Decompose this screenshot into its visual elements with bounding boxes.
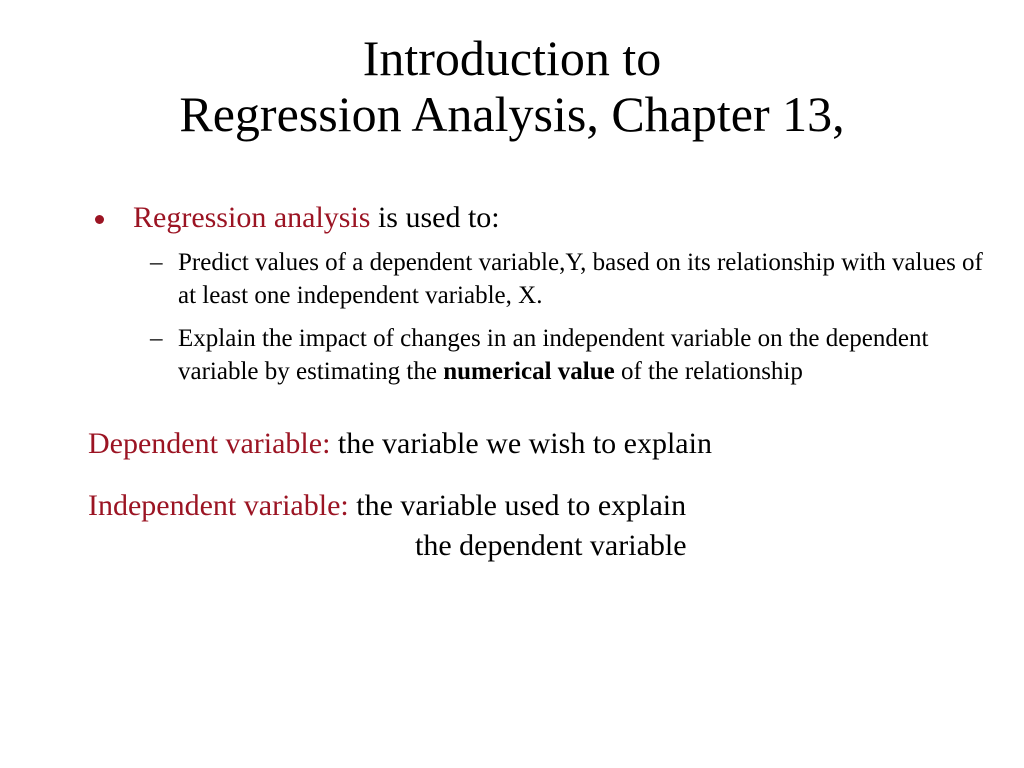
spacer — [88, 398, 998, 424]
slide-title: Introduction to Regression Analysis, Cha… — [0, 30, 1024, 142]
definition-term: Independent variable — [88, 489, 340, 522]
sub-bullet-item-explain: – Explain the impact of changes in an in… — [88, 322, 998, 388]
sub-bullet-item-predict: – Predict values of a dependent variable… — [88, 246, 998, 312]
definition-colon: : — [340, 489, 348, 522]
en-dash-icon: – — [150, 322, 163, 355]
definition-term: Dependent variable — [88, 427, 322, 460]
bullet-plain-text: is used to: — [370, 201, 499, 234]
sub-bullet-text-after-bold: of the relationship — [615, 358, 803, 385]
slide-title-line-2: Regression Analysis, Chapter 13, — [0, 86, 1024, 142]
slide-title-line-1: Introduction to — [0, 30, 1024, 86]
definition-dependent-variable: Dependent variable: the variable we wish… — [88, 424, 998, 464]
sub-bullet-text: Explain the impact of changes in an inde… — [178, 322, 998, 388]
definition-description: the variable used to explain — [349, 489, 686, 522]
definition-description: the variable we wish to explain — [330, 427, 712, 460]
spacer — [88, 464, 998, 486]
definition-independent-variable: Independent variable: the variable used … — [88, 486, 998, 526]
sub-bullet-text: Predict values of a dependent variable,Y… — [178, 246, 998, 312]
bullet-accent-text: Regression analysis — [133, 201, 370, 234]
en-dash-icon: – — [150, 246, 163, 279]
bullet-dot-icon — [95, 215, 104, 224]
slide-canvas: Introduction to Regression Analysis, Cha… — [0, 0, 1024, 768]
bullet-item-regression-analysis: Regression analysis is used to: — [88, 198, 998, 238]
definition-description-continuation: the dependent variable — [88, 526, 998, 566]
slide-body: Regression analysis is used to: – Predic… — [88, 198, 998, 566]
sub-bullet-bold-emphasis: numerical value — [443, 358, 615, 385]
